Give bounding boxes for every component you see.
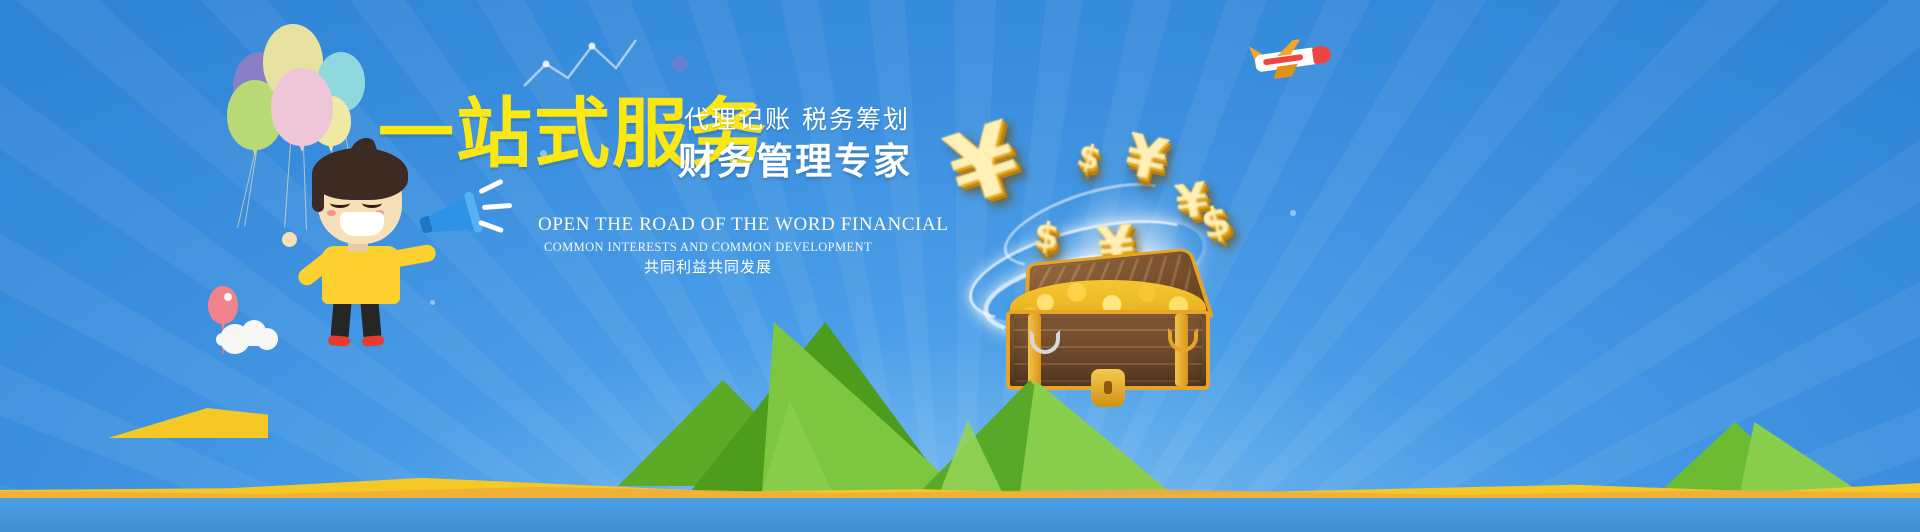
plane-nose — [1312, 45, 1332, 64]
decorative-dot — [1290, 210, 1296, 216]
boy-blush-left — [327, 210, 336, 216]
chart-polyline-icon — [520, 34, 640, 94]
sand-dune-left — [108, 408, 268, 438]
dollar-symbol-icon: $ — [1197, 197, 1235, 248]
mountain-right-light — [1020, 380, 1170, 492]
mountain-far-right-light — [1740, 422, 1860, 492]
balloon-pink — [271, 68, 333, 146]
financial-service-banner: 一站式服务 代理记账 税务筹划 财务管理专家 OPEN THE ROAD OF … — [0, 0, 1920, 532]
english-subtitle-secondary: COMMON INTERESTS AND COMMON DEVELOPMENT — [538, 240, 878, 255]
yen-symbol-icon: ¥ — [1119, 121, 1173, 196]
yen-symbol-icon: ¥ — [934, 100, 1032, 227]
decorative-dot — [672, 56, 688, 72]
english-subtitle-primary: OPEN THE ROAD OF THE WORD FINANCIAL — [538, 214, 878, 236]
chinese-subtitle: 共同利益共同发展 — [538, 256, 878, 277]
boy-hand-left — [282, 232, 297, 247]
landscape-foreground — [0, 292, 1920, 532]
water-strip — [0, 498, 1920, 532]
expert-tagline: 财务管理专家 — [678, 131, 912, 185]
boy-mouth — [340, 212, 384, 236]
dollar-symbol-icon: $ — [1073, 136, 1105, 179]
